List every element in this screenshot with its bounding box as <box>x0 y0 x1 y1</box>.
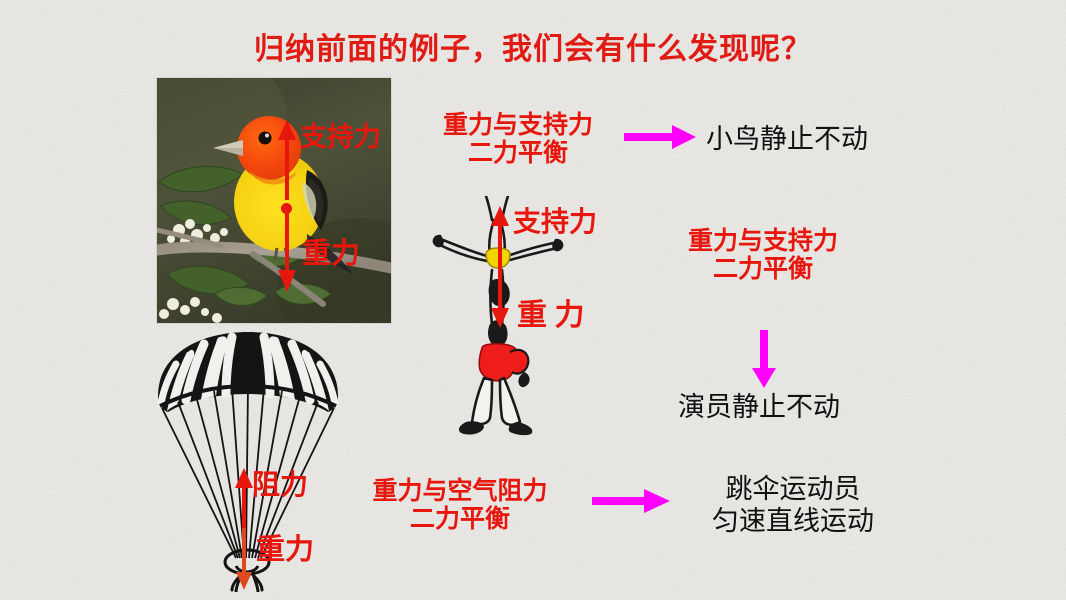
slide-canvas: 归纳前面的例子，我们会有什么发现呢？ <box>0 0 1066 600</box>
bird-flow-arrow <box>624 124 696 150</box>
parachute-conclusion-text: 跳伞运动员 匀速直线运动 <box>678 474 908 538</box>
bird-conclusion-text: 小鸟静止不动 <box>706 124 868 156</box>
acrobat-analysis-line1: 重力与支持力 <box>663 228 863 256</box>
bird-support-force-arrow <box>276 118 298 200</box>
parachute-drag-force-label: 阻力 <box>252 470 308 501</box>
bird-analysis-line2: 二力平衡 <box>418 140 618 168</box>
parachute-analysis-line1: 重力与空气阻力 <box>340 478 580 506</box>
acrobat-support-force-arrow <box>489 204 511 272</box>
acrobat-gravity-force-arrow <box>489 270 511 328</box>
acrobat-analysis-line2: 二力平衡 <box>663 256 863 284</box>
parachute-analysis-text: 重力与空气阻力 二力平衡 <box>340 478 580 534</box>
parachute-conclusion-line2: 匀速直线运动 <box>678 506 908 538</box>
acrobat-gravity-force-label: 重 力 <box>517 299 585 333</box>
acrobat-flow-arrow <box>751 330 777 388</box>
bird-analysis-line1: 重力与支持力 <box>418 112 618 140</box>
parachute-analysis-line2: 二力平衡 <box>340 506 580 534</box>
parachute-gravity-force-label: 重力 <box>256 534 314 566</box>
bird-analysis-text: 重力与支持力 二力平衡 <box>418 112 618 168</box>
bird-support-force-label: 支持力 <box>300 122 381 152</box>
slide-title: 归纳前面的例子，我们会有什么发现呢？ <box>0 24 1066 68</box>
bird-photo <box>157 78 391 323</box>
parachute-conclusion-line1: 跳伞运动员 <box>678 474 908 506</box>
acrobat-analysis-text: 重力与支持力 二力平衡 <box>663 228 863 284</box>
acrobat-support-force-label: 支持力 <box>513 207 597 238</box>
acrobat-conclusion-line1: 演员静止不动 <box>678 392 840 424</box>
bird-gravity-force-label: 重力 <box>302 238 360 270</box>
parachute-flow-arrow <box>592 488 670 514</box>
parachute-gravity-force-arrow <box>234 528 254 590</box>
bird-conclusion-line1: 小鸟静止不动 <box>706 124 868 156</box>
acrobat-conclusion-text: 演员静止不动 <box>678 392 840 424</box>
bird-gravity-force-arrow <box>276 212 298 292</box>
